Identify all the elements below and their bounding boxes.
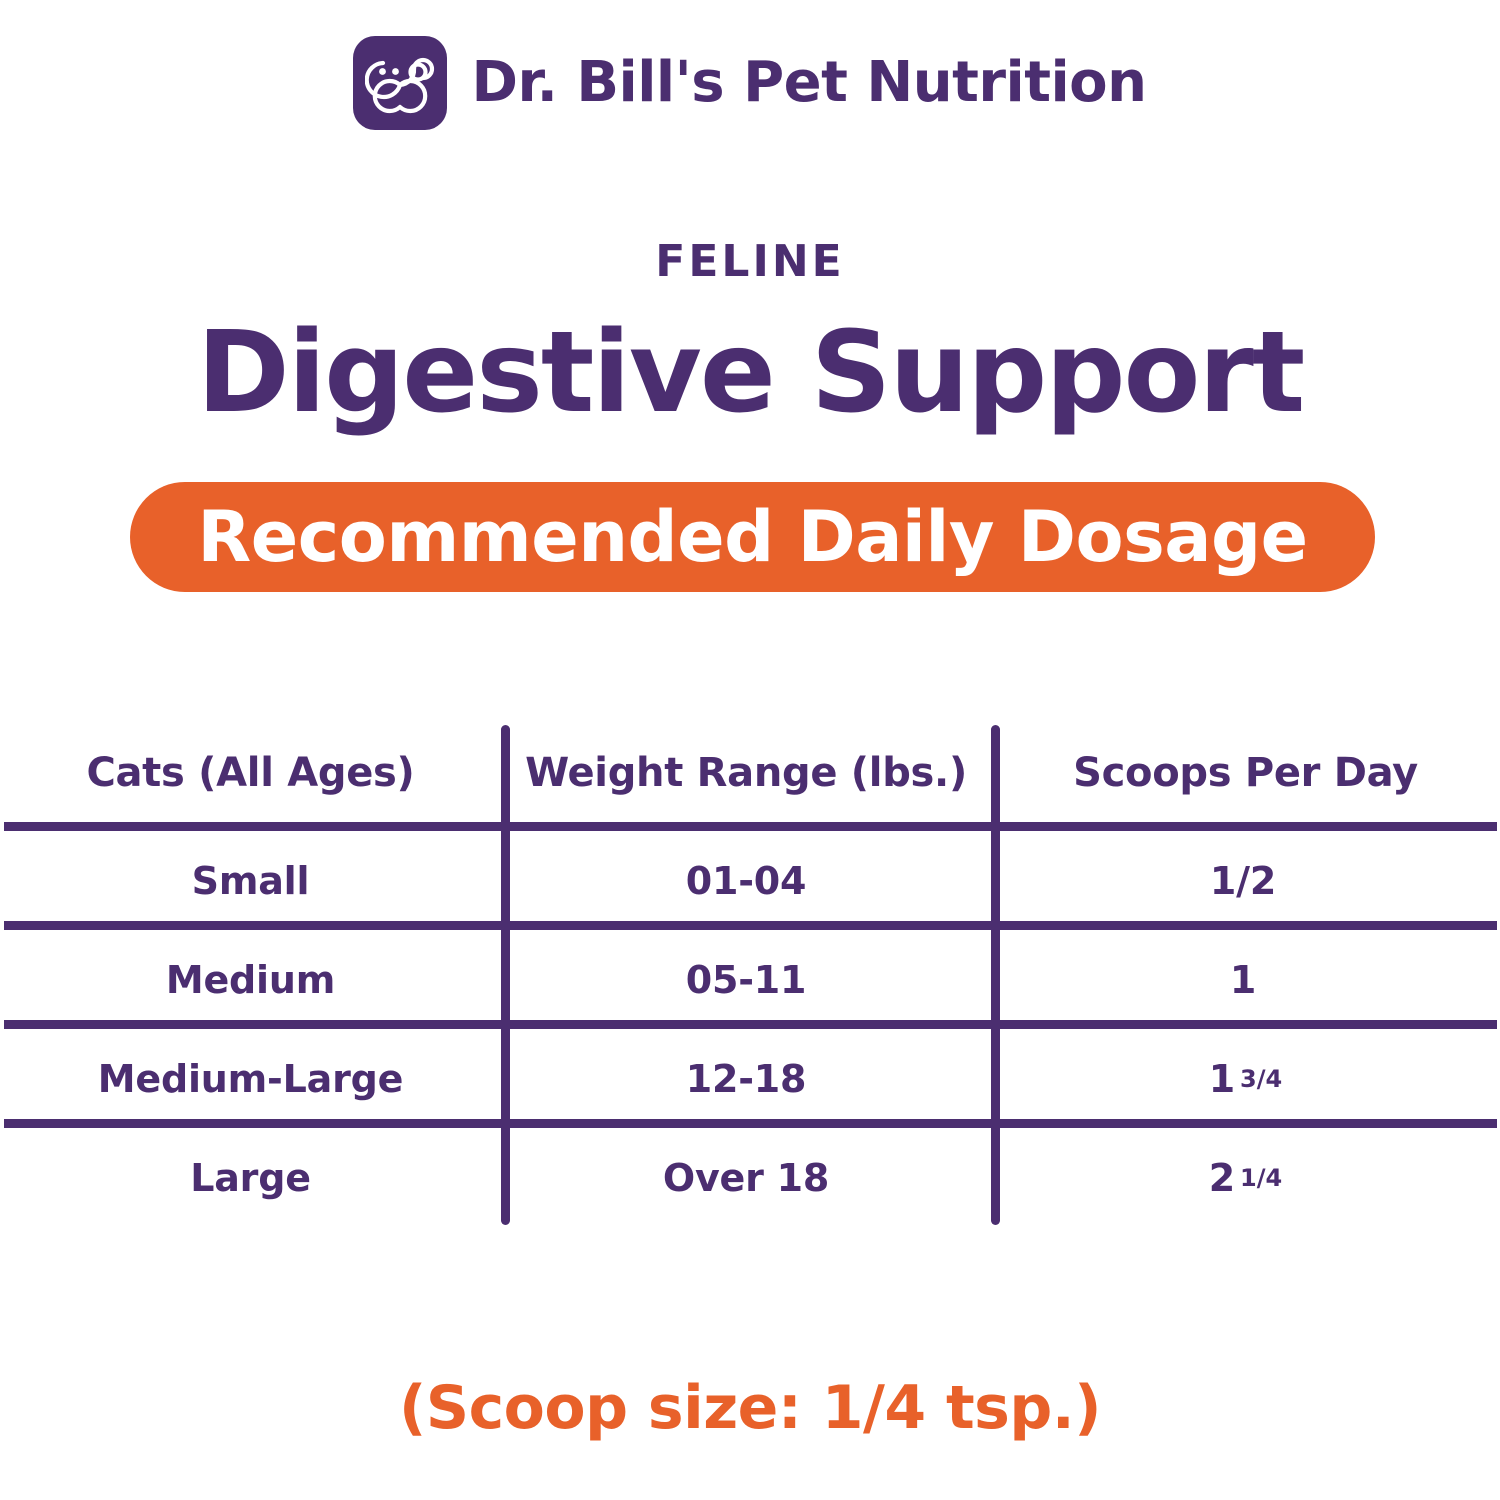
scoops-whole: 1	[1209, 1060, 1235, 1098]
cell-size: Medium-Large	[0, 1029, 501, 1128]
column-header-weight: Weight Range (lbs.)	[501, 723, 991, 822]
scoops-fraction: 1/4	[1240, 1166, 1282, 1190]
page-title: Digestive Support	[0, 312, 1500, 435]
brand-name: Dr. Bill's Pet Nutrition	[471, 55, 1146, 111]
cell-size: Large	[0, 1128, 501, 1227]
cell-weight: Over 18	[501, 1128, 991, 1227]
recommended-daily-dosage-banner: Recommended Daily Dosage	[130, 482, 1375, 592]
cell-scoops: 1	[991, 930, 1500, 1029]
dosage-infographic: Dr. Bill's Pet Nutrition FELINE Digestiv…	[0, 0, 1500, 1500]
scoops-whole: 1	[1230, 961, 1256, 999]
cell-scoops: 21/4	[991, 1128, 1500, 1227]
scoops-whole: 1/2	[1210, 862, 1276, 900]
cell-size: Small	[0, 831, 501, 930]
table-row: Medium-Large 12-18 13/4	[0, 1029, 1500, 1128]
dosage-table: Cats (All Ages) Weight Range (lbs.) Scoo…	[0, 700, 1500, 1240]
cell-weight: 05-11	[501, 930, 991, 1029]
scoops-whole: 2	[1209, 1159, 1235, 1197]
table-row: Medium 05-11 1	[0, 930, 1500, 1029]
stethoscope-cat-face-icon	[353, 36, 447, 130]
row-divider-header	[4, 822, 1497, 831]
cell-weight: 12-18	[501, 1029, 991, 1128]
scoops-fraction: 3/4	[1240, 1067, 1282, 1091]
cell-size: Medium	[0, 930, 501, 1029]
table-row: Large Over 18 21/4	[0, 1128, 1500, 1227]
banner-label: Recommended Daily Dosage	[197, 502, 1307, 572]
column-header-size: Cats (All Ages)	[0, 723, 501, 822]
scoop-size-note: (Scoop size: 1/4 tsp.)	[0, 1378, 1500, 1438]
table-row: Small 01-04 1/2	[0, 831, 1500, 930]
eyebrow-label: FELINE	[0, 240, 1500, 284]
brand-header: Dr. Bill's Pet Nutrition	[0, 36, 1500, 130]
table-header-row: Cats (All Ages) Weight Range (lbs.) Scoo…	[0, 723, 1500, 822]
cell-scoops: 1/2	[991, 831, 1500, 930]
column-header-scoops: Scoops Per Day	[991, 723, 1500, 822]
cell-scoops: 13/4	[991, 1029, 1500, 1128]
cell-weight: 01-04	[501, 831, 991, 930]
